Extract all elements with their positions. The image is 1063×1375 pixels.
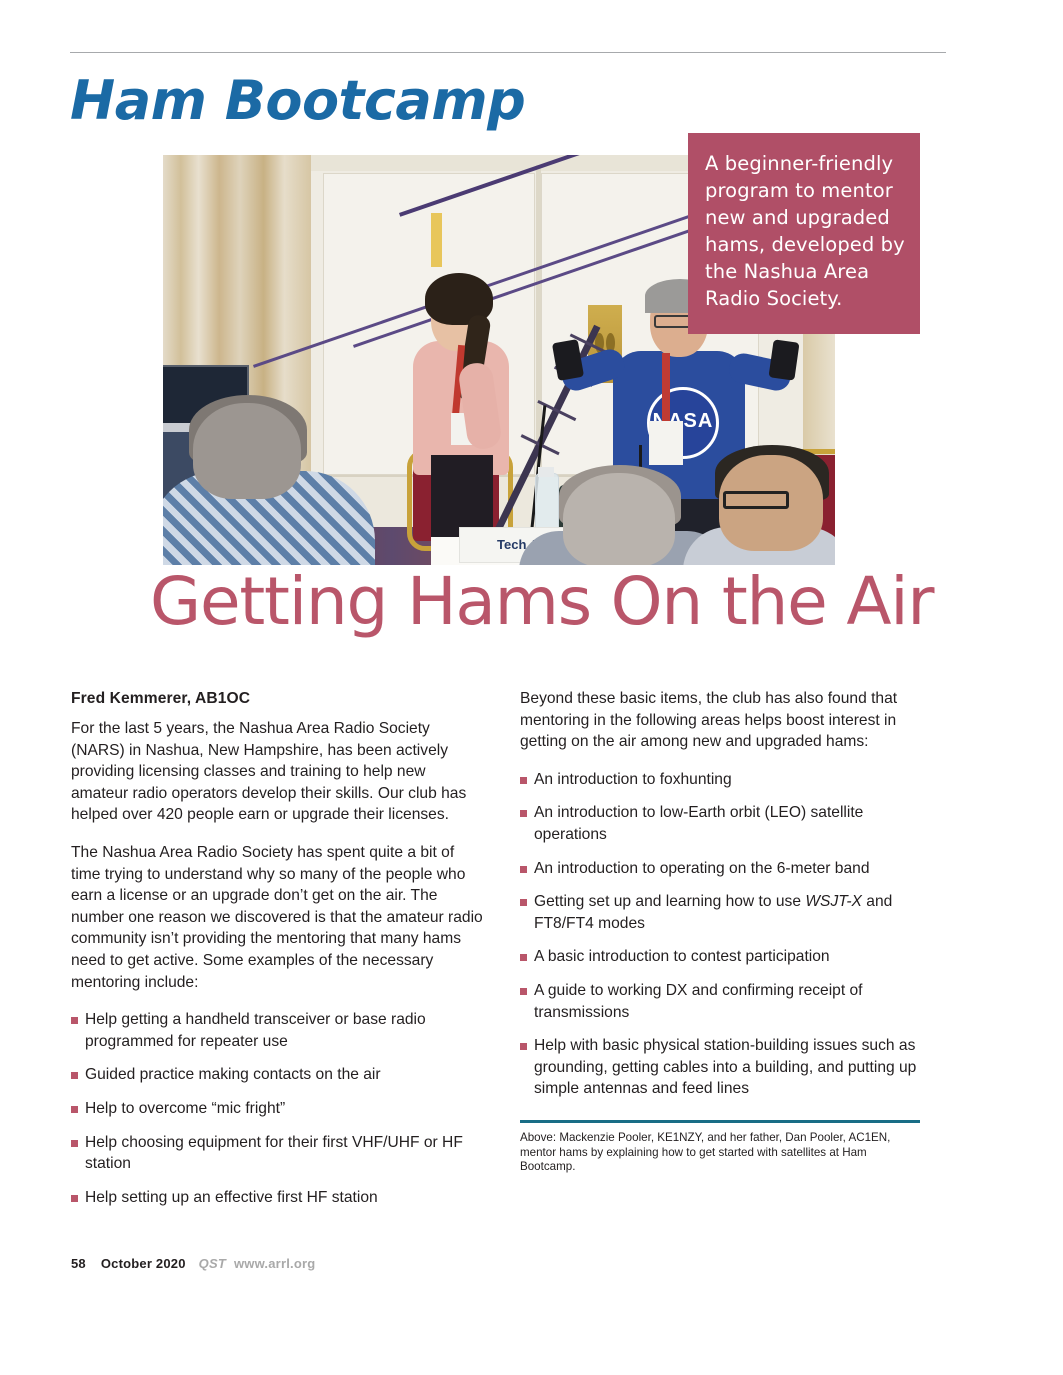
list-item: Help with basic physical station-buildin…	[520, 1035, 920, 1100]
column-left: Fred Kemmerer, AB1OC For the last 5 year…	[71, 688, 483, 1220]
list-item: Getting set up and learning how to use W…	[520, 891, 920, 934]
callout-text: A beginner-friendly program to mentor ne…	[705, 150, 910, 312]
paragraph: Beyond these basic items, the club has a…	[520, 688, 920, 753]
photo-attendee-1-head	[193, 403, 301, 499]
photo-attendee-3-glasses	[723, 491, 789, 509]
list-item: Help to overcome “mic fright”	[71, 1098, 483, 1120]
photo-attendee-2-head	[563, 473, 675, 565]
left-bullet-list: Help getting a handheld transceiver or b…	[71, 1009, 483, 1208]
photo-person-instructor-badge	[649, 421, 683, 465]
page-kicker: Ham Bootcamp	[70, 72, 525, 130]
photo-water-bottle-cap	[538, 467, 554, 477]
website-url: www.arrl.org	[234, 1256, 315, 1271]
column-right: Beyond these basic items, the club has a…	[520, 688, 920, 1112]
list-item: An introduction to foxhunting	[520, 769, 920, 791]
article-headline: Getting Hams On the Air	[150, 565, 1010, 639]
list-item: Help getting a handheld transceiver or b…	[71, 1009, 483, 1052]
photo-handheld-radio-right	[768, 339, 799, 380]
byline: Fred Kemmerer, AB1OC	[71, 688, 483, 710]
photo-door-latch	[431, 213, 442, 267]
list-item: An introduction to low-Earth orbit (LEO)…	[520, 802, 920, 845]
software-name: WSJT-X	[805, 893, 862, 910]
photo-person-instructor-lanyard	[662, 353, 670, 427]
paragraph: For the last 5 years, the Nashua Area Ra…	[71, 718, 483, 826]
caption-rule	[520, 1120, 920, 1123]
list-item: A guide to working DX and confirming rec…	[520, 980, 920, 1023]
page-number: 58	[71, 1256, 86, 1271]
issue-date: October 2020	[101, 1256, 186, 1271]
callout-box: A beginner-friendly program to mentor ne…	[688, 133, 920, 334]
page-footer: 58October 2020QSTwww.arrl.org	[71, 1256, 315, 1271]
list-item: A basic introduction to contest particip…	[520, 946, 920, 968]
right-bullet-list: An introduction to foxhunting An introdu…	[520, 769, 920, 1100]
list-item: An introduction to operating on the 6-me…	[520, 858, 920, 880]
paragraph: The Nashua Area Radio Society has spent …	[71, 842, 483, 993]
article-page: Ham Bootcamp	[0, 0, 1063, 1375]
list-item: Help setting up an effective first HF st…	[71, 1187, 483, 1209]
magazine-name: QST	[199, 1256, 226, 1271]
list-item-text-pre: Getting set up and learning how to use	[534, 893, 805, 910]
top-divider-rule	[70, 52, 946, 53]
list-item: Help choosing equipment for their first …	[71, 1132, 483, 1175]
photo-caption: Above: Mackenzie Pooler, KE1NZY, and her…	[520, 1131, 918, 1175]
list-item: Guided practice making contacts on the a…	[71, 1064, 483, 1086]
